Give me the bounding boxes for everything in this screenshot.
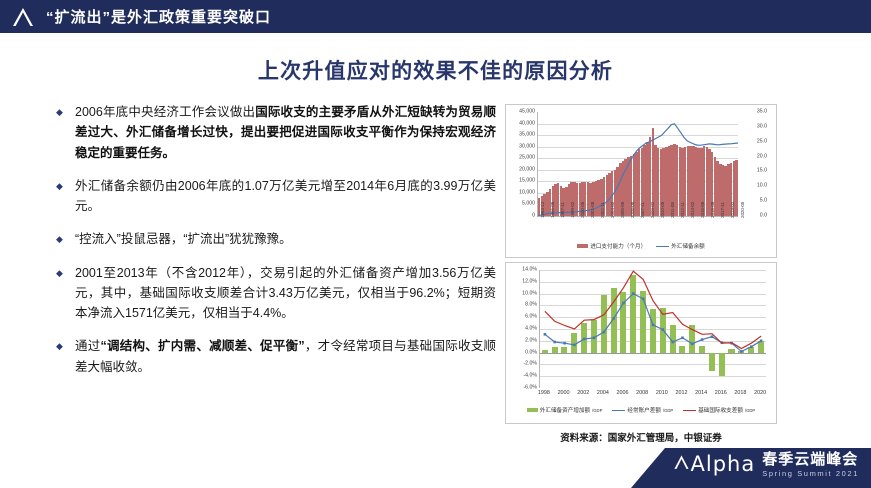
axis-tick-label: 20.0 — [757, 154, 767, 159]
axis-tick-label: 10,000 — [519, 190, 535, 195]
bullet-text-plain: 2006年底中央经济工作会议做出 — [75, 105, 255, 119]
footer-summit-subtitle: Spring Summit 2021 — [762, 470, 859, 478]
legend-label: 外汇储备余额 — [671, 242, 705, 250]
bullet-list: ◆ 2006年底中央经济工作会议做出国际收支的主要矛盾从外汇短缺转为贸易顺差过大… — [56, 102, 496, 390]
bullet-marker-icon: ◆ — [56, 263, 75, 278]
axis-tick-label: 1996-08 — [550, 202, 555, 218]
slide-footer: Alpha 春季云端峰会 Spring Summit 2021 — [0, 448, 871, 488]
axis-tick-label: 2000 — [558, 390, 570, 396]
list-item: ◆ 2001至2013年（不含2012年），交易引起的外汇储备资产增加3.56万… — [56, 263, 496, 324]
bullet-text: “控流入”投鼠忌器，“扩流出”犹犹豫豫。 — [75, 229, 496, 249]
axis-tick-label: 1997-11 — [560, 202, 565, 218]
list-item: ◆ 外汇储备余额仍由2006年底的1.07万亿美元增至2014年6月底的3.99… — [56, 176, 496, 217]
header-title: “扩流出”是外汇政策重要突破口 — [46, 6, 271, 27]
chart1-x-axis-labels: 1993-121996-081997-111999-022000-052001-… — [537, 218, 737, 242]
bullet-text: 2006年底中央经济工作会议做出国际收支的主要矛盾从外汇短缺转为贸易顺差过大、外… — [75, 102, 496, 163]
axis-tick-label: 0.0 — [760, 213, 767, 218]
axis-tick-label: -2.0% — [523, 362, 537, 367]
axis-tick-label: 2017-11 — [720, 202, 725, 218]
list-item: ◆ 通过“调结构、扩内需、减顺差、促平衡”，才令经常项目与基础国际收支顺差大幅收… — [56, 336, 496, 377]
axis-tick-label: 2004 — [597, 390, 609, 396]
bullet-text: 外汇储备余额仍由2006年底的1.07万亿美元增至2014年6月底的3.99万亿… — [75, 176, 496, 217]
legend-item: 进口支付能力（个月） — [577, 242, 646, 250]
chart-bop-gdp: 14.0%12.0%10.0%8.0%6.0%4.0%2.0%0.0%-2.0%… — [505, 262, 777, 424]
axis-tick-label: 5,000 — [522, 202, 535, 207]
axis-tick-label: 2001-08 — [590, 202, 595, 218]
bullet-text-plain: 2001至2013年（不含2012年），交易引起的外汇储备资产增加3.56万亿美… — [75, 266, 496, 321]
axis-tick-label: 0 — [532, 213, 535, 218]
axis-tick-label: -6.0% — [523, 385, 537, 390]
axis-tick-label: 25,000 — [519, 156, 535, 161]
legend-swatch-line — [683, 410, 696, 411]
chart2-legend: 外汇储备资产增加额/GDP经常账户差额/GDP基础国际收支差额/GDP — [509, 406, 773, 414]
axis-tick-label: 0.0% — [525, 350, 537, 355]
chart2-x-axis-labels: 1998200020022004200620082010201220142016… — [539, 390, 765, 400]
axis-tick-label: 2014 — [695, 390, 707, 396]
legend-item: 外汇储备资产增加额/GDP — [527, 406, 603, 414]
footer-summit-name: 春季云端峰会 — [762, 452, 859, 468]
axis-tick-label: 2004-02 — [610, 202, 615, 218]
axis-tick-label: 1993-12 — [540, 202, 545, 218]
footer-brand: Alpha — [673, 454, 756, 475]
legend-label-suffix: /GDP — [663, 408, 673, 413]
axis-tick-label: 4.0% — [525, 326, 537, 331]
chart2-y-axis-labels: 14.0%12.0%10.0%8.0%6.0%4.0%2.0%0.0%-2.0%… — [509, 270, 537, 388]
bullet-marker-icon: ◆ — [56, 176, 75, 191]
axis-tick-label: 30,000 — [519, 144, 535, 149]
legend-label: 进口支付能力（个月） — [590, 242, 646, 250]
source-note: 资料来源：国家外汇管理局，中银证券 — [505, 430, 777, 444]
axis-tick-label: -4.0% — [523, 374, 537, 379]
legend-label-suffix: /GDP — [592, 408, 602, 413]
axis-tick-label: 2020-05 — [740, 202, 745, 218]
axis-tick-label: 2008 — [636, 390, 648, 396]
footer-brand-text: Alpha — [691, 454, 756, 475]
list-item: ◆ “控流入”投鼠忌器，“扩流出”犹犹豫豫。 — [56, 229, 496, 249]
bullet-text-plain: “控流入”投鼠忌器，“扩流出”犹犹豫豫。 — [75, 232, 292, 246]
axis-tick-label: 2009-02 — [650, 202, 655, 218]
axis-tick-label: 2000-05 — [580, 202, 585, 218]
axis-tick-label: 2019-02 — [730, 202, 735, 218]
legend-label: 基础国际收支差额 — [698, 406, 743, 414]
legend-item: 经常账户差额/GDP — [612, 406, 673, 414]
bullet-marker-icon: ◆ — [56, 102, 75, 117]
chart1-plot-area — [537, 112, 738, 217]
axis-tick-label: 2018 — [734, 390, 746, 396]
bullet-marker-icon: ◆ — [56, 229, 75, 244]
series-lines — [540, 270, 766, 388]
axis-tick-label: 2011-08 — [670, 202, 675, 218]
axis-tick-label: 2006-08 — [630, 202, 635, 218]
chart-fx-reserves: 45,00040,00035,00030,00025,00020,00015,0… — [505, 104, 777, 258]
axis-tick-label: 2002-11 — [600, 202, 605, 218]
legend-swatch-bar — [577, 244, 588, 248]
bullet-text-plain: 通过 — [75, 339, 101, 353]
chart1-y-axis-labels: 45,00040,00035,00030,00025,00020,00015,0… — [509, 112, 535, 216]
list-item: ◆ 2006年底中央经济工作会议做出国际收支的主要矛盾从外汇短缺转为贸易顺差过大… — [56, 102, 496, 163]
axis-tick-label: 2006 — [617, 390, 629, 396]
chart1-legend: 进口支付能力（个月）外汇储备余额 — [509, 242, 773, 250]
alpha-triangle-icon — [673, 454, 690, 475]
axis-tick-label: 30.0 — [757, 124, 767, 129]
slide-header-bar: “扩流出”是外汇政策重要突破口 — [0, 0, 871, 33]
axis-tick-label: 2005-05 — [620, 202, 625, 218]
gridline — [538, 216, 738, 217]
legend-label: 外汇储备资产增加额 — [540, 406, 590, 414]
axis-tick-label: 14.0% — [522, 267, 537, 272]
bullet-text: 通过“调结构、扩内需、减顺差、促平衡”，才令经常项目与基础国际收支顺差大幅收敛。 — [75, 336, 496, 377]
axis-tick-label: 2012 — [675, 390, 687, 396]
axis-tick-label: 2020 — [754, 390, 766, 396]
bullet-marker-icon: ◆ — [56, 336, 75, 351]
legend-item: 外汇储备余额 — [656, 242, 705, 250]
legend-swatch-bar — [527, 408, 538, 412]
bullet-text-plain: 外汇储备余额仍由2006年底的1.07万亿美元增至2014年6月底的3.99万亿… — [75, 179, 496, 213]
chart2-plot-area — [539, 270, 766, 388]
axis-tick-label: 2015-05 — [700, 202, 705, 218]
axis-tick-label: 5.0 — [760, 199, 767, 204]
axis-tick-label: 15.0 — [757, 169, 767, 174]
legend-swatch-line — [612, 410, 625, 411]
axis-tick-label: 2007-11 — [640, 202, 645, 218]
chart1-y2-axis-labels: 35.030.025.020.015.010.05.00.0 — [741, 112, 767, 216]
axis-tick-label: 1999-02 — [570, 202, 575, 218]
axis-tick-label: 8.0% — [525, 303, 537, 308]
legend-swatch-line — [656, 246, 669, 247]
axis-tick-label: 2016-08 — [710, 202, 715, 218]
legend-label-suffix: /GDP — [745, 408, 755, 413]
axis-tick-label: 40,000 — [519, 121, 535, 126]
axis-tick-label: 2010 — [656, 390, 668, 396]
bullet-text-bold: “调结构、扩内需、减顺差、促平衡” — [101, 339, 305, 353]
page-title: 上次升值应对的效果不佳的原因分析 — [0, 55, 871, 85]
legend-label: 经常账户差额 — [627, 406, 661, 414]
charts-panel: 45,00040,00035,00030,00025,00020,00015,0… — [505, 104, 777, 424]
axis-tick-label: 2016 — [715, 390, 727, 396]
series-line — [538, 112, 738, 216]
axis-tick-label: 10.0 — [757, 184, 767, 189]
axis-tick-label: 20,000 — [519, 167, 535, 172]
axis-tick-label: 2.0% — [525, 338, 537, 343]
axis-tick-label: 15,000 — [519, 179, 535, 184]
axis-tick-label: 12.0% — [522, 279, 537, 284]
axis-tick-label: 35,000 — [519, 133, 535, 138]
legend-item: 基础国际收支差额/GDP — [683, 406, 755, 414]
axis-tick-label: 2014-02 — [690, 202, 695, 218]
axis-tick-label: 1998 — [538, 390, 550, 396]
axis-tick-label: 6.0% — [525, 315, 537, 320]
axis-tick-label: 45,000 — [519, 109, 535, 114]
bullet-text: 2001至2013年（不含2012年），交易引起的外汇储备资产增加3.56万亿美… — [75, 263, 496, 324]
axis-tick-label: 2002 — [577, 390, 589, 396]
alpha-triangle-icon — [0, 0, 46, 33]
axis-tick-label: 2012-11 — [680, 202, 685, 218]
axis-tick-label: 10.0% — [522, 291, 537, 296]
axis-tick-label: 25.0 — [757, 139, 767, 144]
axis-tick-label: 35.0 — [757, 109, 767, 114]
axis-tick-label: 2010-05 — [660, 202, 665, 218]
